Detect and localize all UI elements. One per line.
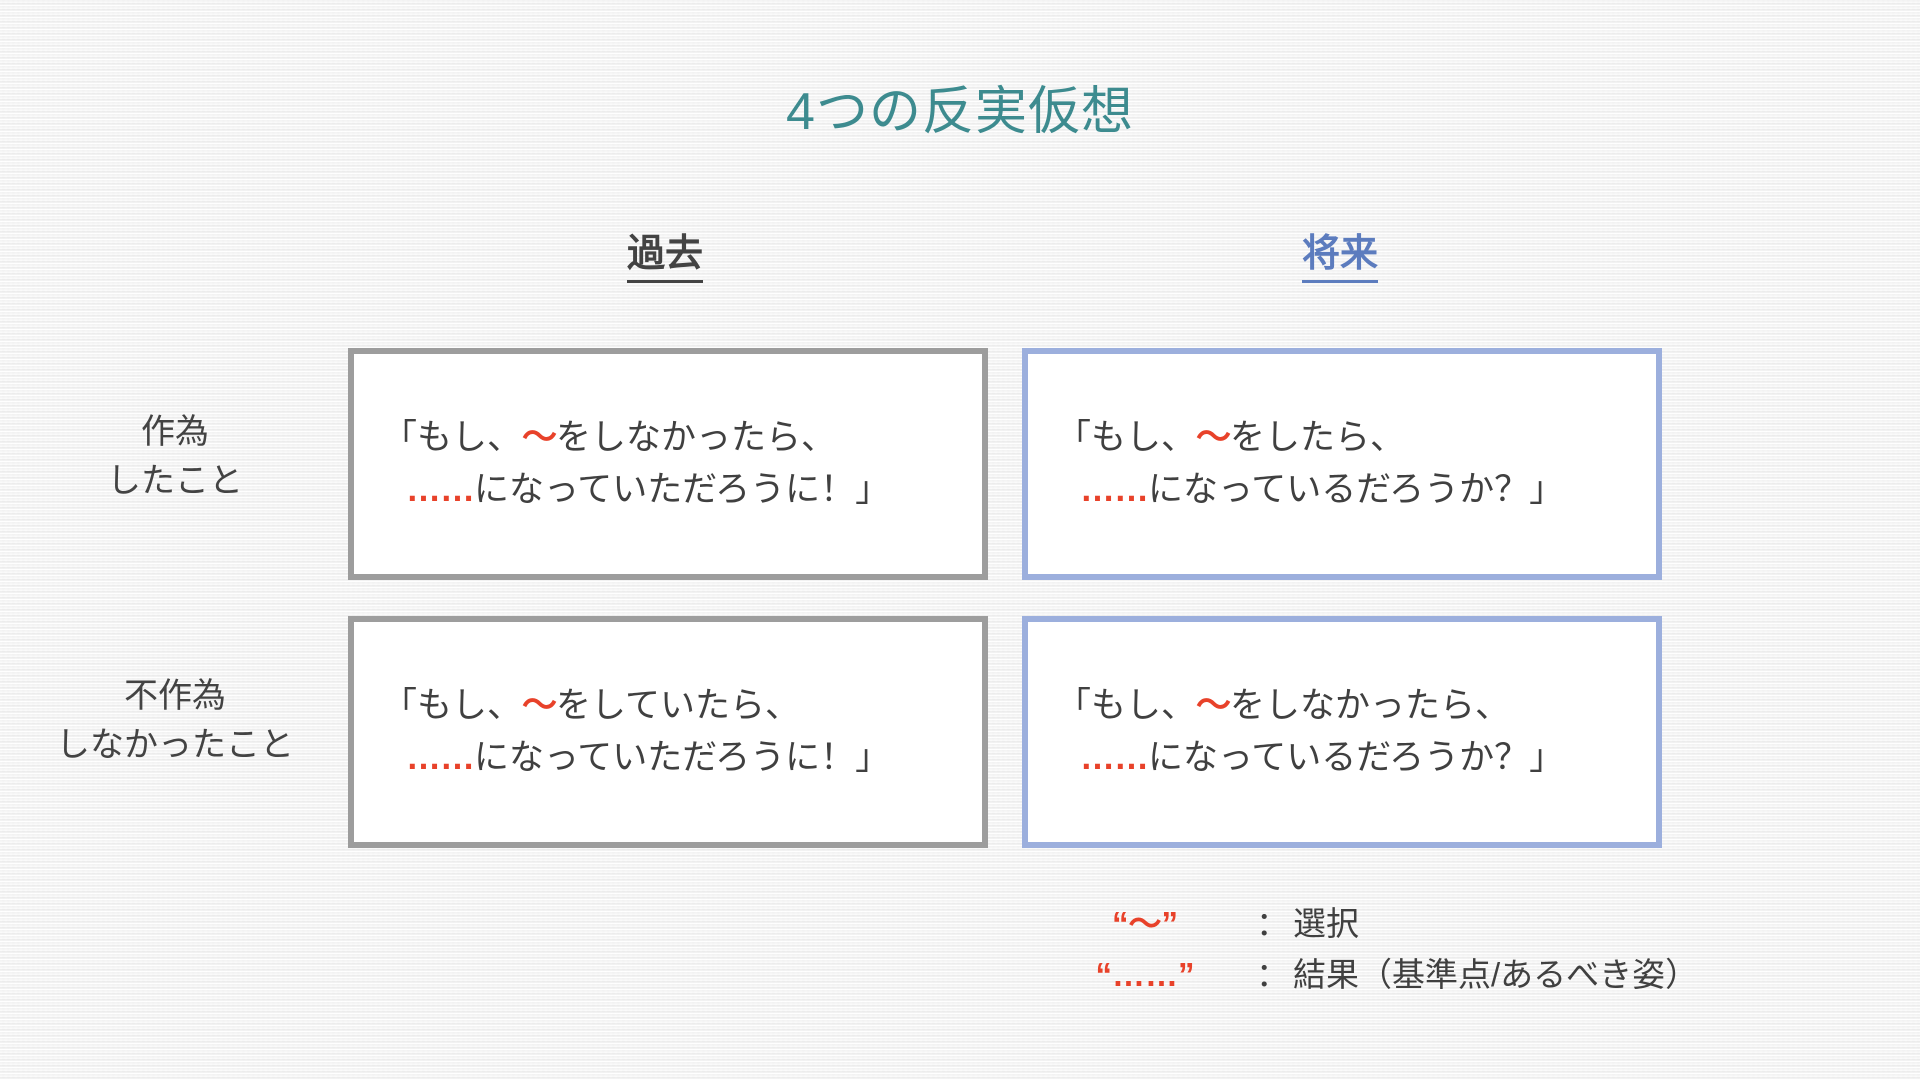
text-suffix: をしなかったら、: [556, 418, 836, 457]
dots-marker: ……: [406, 738, 474, 777]
cell-future-commission-line1: 「もし、〜をしたら、: [1028, 412, 1656, 465]
text-suffix: になっているだろうか？」: [1148, 470, 1564, 509]
column-header-future-label: 将来: [1302, 232, 1378, 283]
column-header-past-label: 過去: [627, 232, 703, 283]
legend-separator: ：: [1250, 949, 1293, 1000]
column-header-future: 将来: [1170, 232, 1510, 283]
text-suffix: になっているだろうか？」: [1148, 738, 1564, 777]
text-prefix: 「もし、: [382, 418, 522, 457]
column-header-past: 過去: [495, 232, 835, 283]
dots-marker: ……: [406, 470, 474, 509]
tilde-marker: 〜: [1196, 418, 1230, 457]
cell-past-omission-line2: ……になっていただろうに！」: [354, 732, 982, 785]
cell-past-omission: 「もし、〜をしていたら、 ……になっていただろうに！」: [348, 616, 988, 848]
dots-marker: ……: [1080, 738, 1148, 777]
text-suffix: になっていただろうに！」: [474, 470, 890, 509]
text-suffix: をしたら、: [1230, 418, 1405, 457]
text-suffix: をしなかったら、: [1230, 686, 1510, 725]
row-label-commission: 作為 したこと: [10, 408, 340, 507]
legend-description-tilde: 選択: [1293, 898, 1359, 949]
cell-past-commission: 「もし、〜をしなかったら、 ……になっていただろうに！」: [348, 348, 988, 580]
text-suffix: になっていただろうに！」: [474, 738, 890, 777]
row-label-omission: 不作為 しなかったこと: [10, 672, 340, 771]
text-prefix: 「もし、: [1056, 686, 1196, 725]
cell-future-omission-line2: ……になっているだろうか？」: [1028, 732, 1656, 785]
row-label-omission-line2: しなかったこと: [10, 721, 340, 770]
tilde-marker: 〜: [522, 686, 556, 725]
text-prefix: 「もし、: [1056, 418, 1196, 457]
legend-separator: ：: [1250, 898, 1293, 949]
cell-past-omission-line1: 「もし、〜をしていたら、: [354, 680, 982, 733]
legend: “〜” ： 選択 “……” ： 結果（基準点/あるべき姿）: [1040, 898, 1840, 1000]
row-label-commission-line1: 作為: [10, 408, 340, 457]
legend-description-dots: 結果（基準点/あるべき姿）: [1293, 949, 1698, 1000]
legend-key-tilde: “〜”: [1040, 898, 1250, 949]
tilde-marker: 〜: [522, 418, 556, 457]
page-title: 4つの反実仮想: [0, 84, 1920, 141]
text-suffix: をしていたら、: [556, 686, 800, 725]
slide-canvas: 4つの反実仮想 過去 将来 作為 したこと 不作為 しなかったこと 「もし、〜を…: [0, 0, 1920, 1080]
legend-item-tilde: “〜” ： 選択: [1040, 898, 1840, 949]
cell-future-commission: 「もし、〜をしたら、 ……になっているだろうか？」: [1022, 348, 1662, 580]
cell-future-omission: 「もし、〜をしなかったら、 ……になっているだろうか？」: [1022, 616, 1662, 848]
legend-item-dots: “……” ： 結果（基準点/あるべき姿）: [1040, 949, 1840, 1000]
dots-marker: ……: [1080, 470, 1148, 509]
row-label-commission-line2: したこと: [10, 457, 340, 506]
cell-future-omission-line1: 「もし、〜をしなかったら、: [1028, 680, 1656, 733]
cell-past-commission-line1: 「もし、〜をしなかったら、: [354, 412, 982, 465]
row-label-omission-line1: 不作為: [10, 672, 340, 721]
cell-past-commission-line2: ……になっていただろうに！」: [354, 464, 982, 517]
tilde-marker: 〜: [1196, 686, 1230, 725]
legend-key-dots: “……”: [1040, 949, 1250, 1000]
text-prefix: 「もし、: [382, 686, 522, 725]
cell-future-commission-line2: ……になっているだろうか？」: [1028, 464, 1656, 517]
